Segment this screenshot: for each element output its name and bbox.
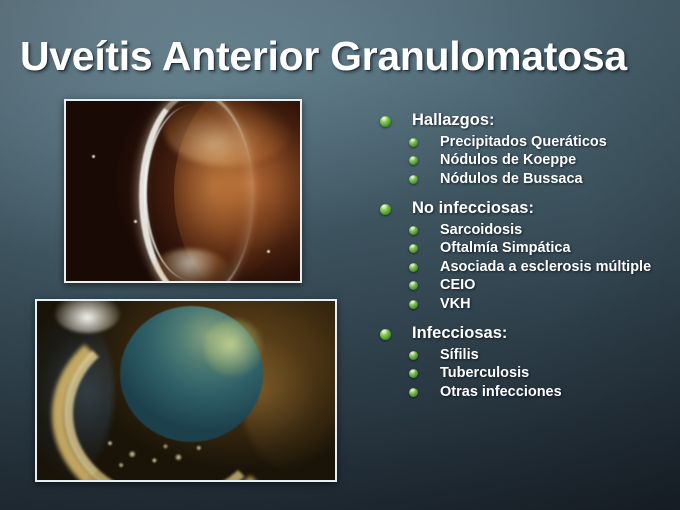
bullet-sphere-icon — [409, 300, 418, 309]
bullet-group-infecciosas: Infecciosas: Sífilis Tuberculosis Otras … — [380, 325, 676, 399]
bullet-item-row: Sífilis — [380, 348, 676, 363]
bullet-item-label: Precipitados Queráticos — [440, 135, 607, 150]
bullet-heading-label: Infecciosas: — [412, 325, 507, 342]
bullet-sphere-icon — [380, 329, 391, 340]
presentation-slide: Uveítis Anterior Granulomatosa — [0, 0, 680, 510]
keratic-precipitate-spot — [92, 155, 95, 158]
bullet-item-label: Asociada a esclerosis múltiple — [440, 260, 651, 275]
bullet-item-label: CEIO — [440, 278, 475, 293]
bullet-heading-row: Hallazgos: — [380, 112, 676, 129]
bullet-heading-label: Hallazgos: — [412, 112, 495, 129]
bullet-item-row: Oftalmía Simpática — [380, 241, 676, 256]
bullet-group-no-infecciosas: No infecciosas: Sarcoidosis Oftalmía Sim… — [380, 200, 676, 311]
bullet-item-row: Nódulos de Koeppe — [380, 153, 676, 168]
bullet-sphere-icon — [380, 116, 391, 127]
bullet-item-row: Tuberculosis — [380, 366, 676, 381]
bullet-sphere-icon — [409, 369, 418, 378]
bullet-item-row: Sarcoidosis — [380, 223, 676, 238]
photo-content-top — [66, 101, 300, 281]
bullet-item-label: Nódulos de Bussaca — [440, 172, 583, 187]
bullet-heading-row: No infecciosas: — [380, 200, 676, 217]
bullet-sphere-icon — [409, 226, 418, 235]
bullet-item-row: CEIO — [380, 278, 676, 293]
bullet-item-label: Oftalmía Simpática — [440, 241, 571, 256]
photo-content-bottom — [37, 301, 335, 480]
iris-nodules-clinical-photo — [35, 299, 337, 482]
bullet-item-row: VKH — [380, 297, 676, 312]
bullet-item-row: Nódulos de Bussaca — [380, 172, 676, 187]
bullet-sphere-icon — [409, 175, 418, 184]
bullet-sphere-icon — [409, 351, 418, 360]
bullet-item-row: Asociada a esclerosis múltiple — [380, 260, 676, 275]
bullet-group-hallazgos: Hallazgos: Precipitados Queráticos Nódul… — [380, 112, 676, 186]
slit-lamp-anterior-segment-photo — [64, 99, 302, 283]
bullet-sphere-icon — [409, 263, 418, 272]
bullet-item-label: Sarcoidosis — [440, 223, 522, 238]
slide-body-bullets: Hallazgos: Precipitados Queráticos Nódul… — [380, 112, 676, 399]
bullet-item-row: Precipitados Queráticos — [380, 135, 676, 150]
bullet-sphere-icon — [409, 138, 418, 147]
bullet-item-row: Otras infecciones — [380, 385, 676, 400]
bullet-item-label: Nódulos de Koeppe — [440, 153, 576, 168]
bullet-sphere-icon — [380, 204, 391, 215]
slide-title: Uveítis Anterior Granulomatosa — [20, 33, 627, 80]
bullet-sphere-icon — [409, 156, 418, 165]
bullet-sphere-icon — [409, 388, 418, 397]
bullet-heading-row: Infecciosas: — [380, 325, 676, 342]
bullet-item-label: Sífilis — [440, 348, 479, 363]
bullet-heading-label: No infecciosas: — [412, 200, 534, 217]
koeppe-nodules-cluster — [73, 398, 258, 477]
bullet-item-label: VKH — [440, 297, 471, 312]
bullet-item-label: Otras infecciones — [440, 385, 562, 400]
bullet-item-label: Tuberculosis — [440, 366, 529, 381]
bullet-sphere-icon — [409, 281, 418, 290]
keratic-precipitate-spot — [134, 220, 137, 223]
bullet-sphere-icon — [409, 244, 418, 253]
